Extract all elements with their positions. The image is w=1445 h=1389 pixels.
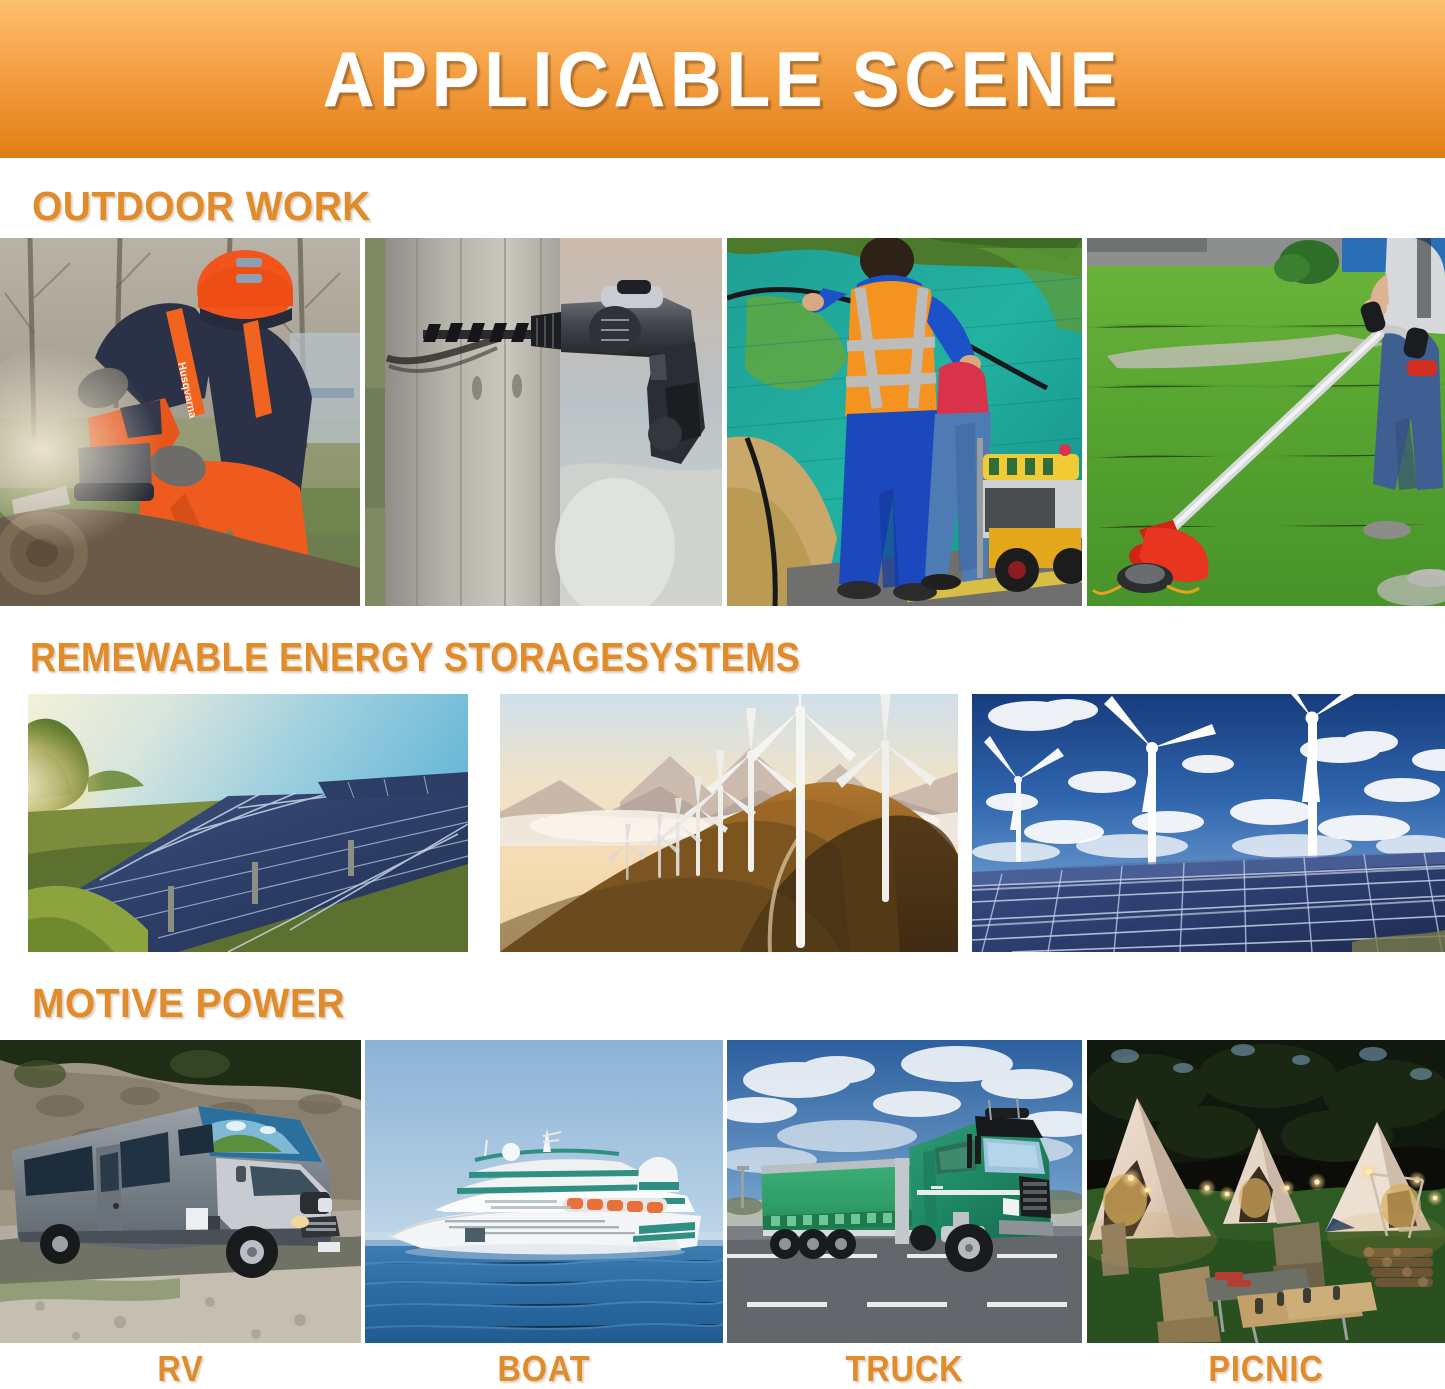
panel-cruise-ship xyxy=(365,1040,723,1343)
renewable-energy-panel-row xyxy=(0,694,1445,952)
header-banner: APPLICABLE SCENE xyxy=(0,0,1445,158)
panel-wind-and-solar xyxy=(972,694,1445,952)
panel-rotary-hammer-drill xyxy=(365,238,722,606)
panel-rv-motorhome xyxy=(0,1040,361,1343)
panel-glamping-tents xyxy=(1087,1040,1445,1343)
caption-boat: BOAT xyxy=(383,1348,705,1389)
panel-chainsaw-operator: Husqvarna xyxy=(0,238,360,606)
caption-rv: RV xyxy=(18,1348,343,1389)
panel-wind-farm-ridge xyxy=(500,694,958,952)
page-title: APPLICABLE SCENE xyxy=(323,34,1122,125)
motive-power-panel-row xyxy=(0,1040,1445,1343)
panel-construction-workers xyxy=(727,238,1082,606)
caption-truck: TRUCK xyxy=(745,1348,1065,1389)
section-heading-outdoor-work: OUTDOOR WORK xyxy=(32,183,371,230)
panel-solar-farm-sunrise xyxy=(28,694,468,952)
caption-picnic: PICNIC xyxy=(1105,1348,1427,1389)
applicable-scene-infographic: APPLICABLE SCENE OUTDOOR WORK xyxy=(0,0,1445,1389)
outdoor-work-panel-row: Husqvarna xyxy=(0,238,1445,606)
panel-semi-truck xyxy=(727,1040,1082,1343)
motive-power-captions: RV BOAT TRUCK PICNIC xyxy=(0,1348,1445,1389)
section-heading-renewable-energy: REMEWABLE ENERGY STORAGESYSTEMS xyxy=(30,634,800,681)
section-heading-motive-power: MOTIVE POWER xyxy=(32,980,345,1027)
panel-string-trimmer xyxy=(1087,238,1445,606)
